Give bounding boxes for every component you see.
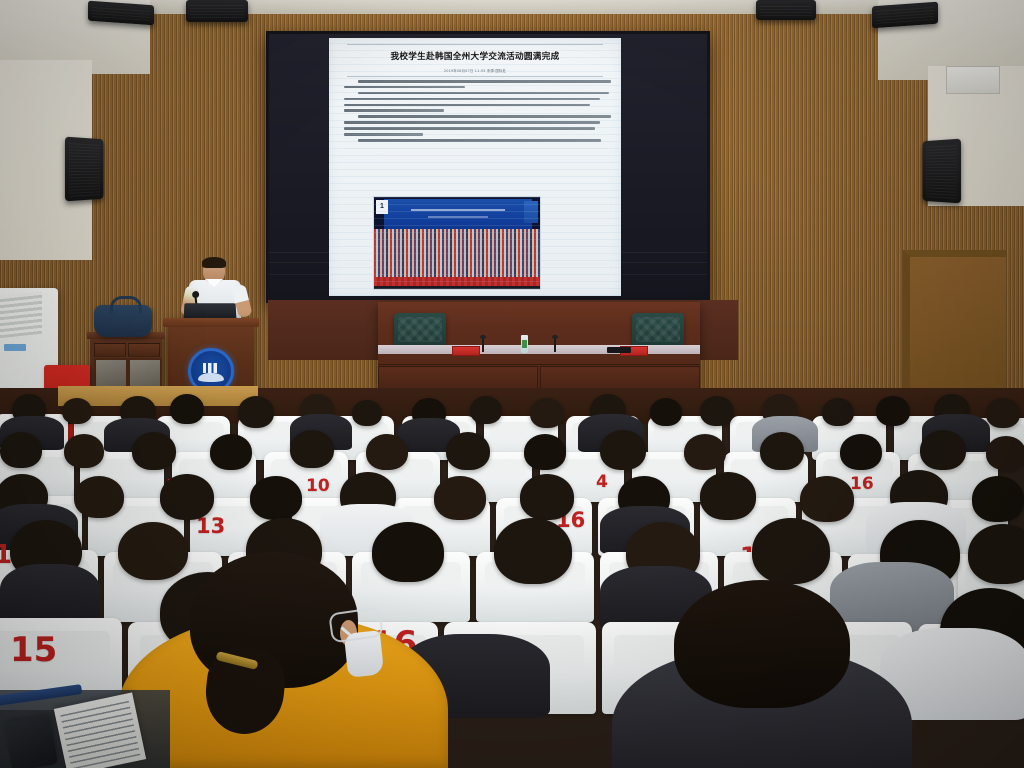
seat-number-12b: 10 (306, 476, 330, 496)
water-bottle (521, 335, 528, 353)
ceiling-speaker-left-icon (186, 0, 248, 22)
photo-floor (374, 286, 540, 289)
ac-display-panel (4, 344, 26, 351)
lecture-hall-photo: 我校学生赴韩国全州大学交流活动圆满完成 2019年08月07日 11:53 来源… (0, 0, 1024, 768)
name-card-left (452, 346, 480, 356)
podium-top (163, 318, 259, 327)
photo-side-panel (524, 201, 538, 223)
presenter-hair (202, 257, 226, 268)
dark-shirt-head (674, 580, 850, 708)
slide-headline: 我校学生赴韩国全州大学交流活动圆满完成 (329, 50, 621, 62)
foreground-person-dark-shirt (612, 580, 912, 768)
cabinet-drawer-right (128, 343, 160, 357)
cabinet-drawer-left (94, 343, 126, 357)
photo-crowd-rows (374, 229, 540, 281)
notebook-handwriting (60, 698, 141, 768)
desk-microphone-left (482, 338, 484, 352)
slide-byline: 2019年08月07日 11:53 来源:国际处 (329, 68, 621, 73)
bag-handle (110, 296, 142, 313)
slide-group-photo: 1 (373, 196, 541, 290)
door-recess-right (903, 250, 1006, 407)
desk-microphone-right (554, 338, 556, 352)
ceiling-speaker-right-icon (756, 0, 816, 20)
wall-speaker-left-icon (65, 137, 103, 202)
photo-corner-label: 1 (376, 200, 388, 214)
table-surface (378, 345, 700, 354)
slide-document-page: 我校学生赴韩国全州大学交流活动圆满完成 2019年08月07日 11:53 来源… (329, 38, 621, 296)
slide-body-text (344, 80, 608, 145)
conference-table (378, 302, 700, 388)
green-leather-chair-left (394, 313, 446, 346)
phone (4, 714, 58, 768)
projection-screen: 我校学生赴韩国全州大学交流活动圆满完成 2019年08月07日 11:53 来源… (266, 31, 710, 303)
wall-control-box (946, 66, 1000, 94)
ac-vent-grille (0, 292, 42, 338)
laptop (184, 303, 237, 319)
green-leather-chair-right (632, 313, 684, 346)
seat-number-4: 4 (596, 472, 608, 492)
ceiling-speaker-far-right-icon (872, 2, 938, 29)
keyboard (607, 347, 631, 353)
wall-speaker-right-icon (923, 139, 961, 204)
photo-stage-banner (384, 199, 532, 229)
seat-number-x1: 16 (850, 474, 874, 494)
seat-number-15b: 15 (10, 630, 57, 670)
navy-bag (94, 305, 152, 337)
